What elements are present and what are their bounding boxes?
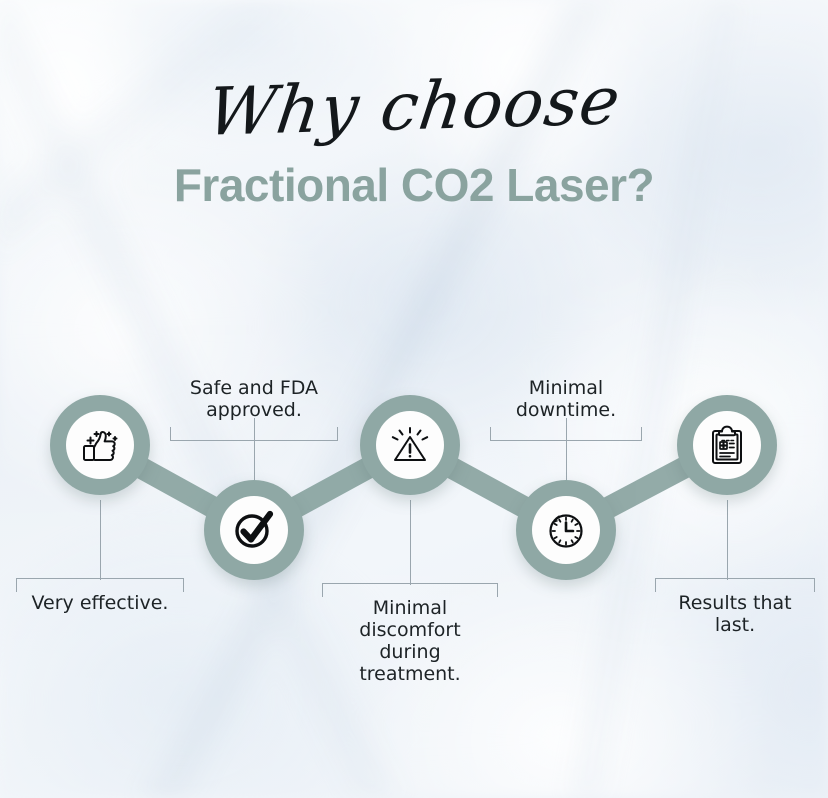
infographic-poster: Why choose Fractional CO2 Laser? — [0, 0, 828, 798]
process-node-1[interactable] — [50, 395, 150, 495]
callout-5-text: Results that last. — [655, 590, 815, 642]
callout-1-bracket — [16, 578, 184, 592]
process-node-4[interactable] — [516, 480, 616, 580]
callout-minimal-discomfort: Minimal discomfort during treatment. — [322, 583, 498, 691]
callout-4-text: Minimal downtime. — [490, 375, 642, 427]
callout-2-bracket — [170, 427, 338, 441]
medical-clipboard-icon — [704, 422, 750, 468]
leader-line-3 — [410, 500, 411, 585]
callout-2-text: Safe and FDA approved. — [170, 375, 338, 427]
process-chain: Very effective. Safe and FDA approved. M… — [0, 0, 828, 798]
process-node-5[interactable] — [677, 395, 777, 495]
leader-line-1 — [100, 500, 101, 580]
callout-3-text: Minimal discomfort during treatment. — [322, 595, 498, 691]
check-circle-icon — [230, 506, 278, 554]
node-1-disc — [66, 411, 134, 479]
callout-5-bracket — [655, 578, 815, 592]
callout-safe-fda: Safe and FDA approved. — [170, 375, 338, 441]
warning-triangle-icon — [387, 422, 433, 468]
thumbs-up-sparkle-icon — [77, 422, 123, 468]
callout-very-effective: Very effective. — [16, 578, 184, 620]
callout-3-bracket — [322, 583, 498, 597]
callout-results-last: Results that last. — [655, 578, 815, 642]
callout-4-bracket — [490, 427, 642, 441]
clock-icon — [543, 507, 589, 553]
node-3-disc — [376, 411, 444, 479]
callout-minimal-downtime: Minimal downtime. — [490, 375, 642, 441]
node-4-disc — [532, 496, 600, 564]
process-node-3[interactable] — [360, 395, 460, 495]
process-node-2[interactable] — [204, 480, 304, 580]
leader-line-5 — [727, 500, 728, 580]
callout-1-text: Very effective. — [16, 590, 184, 620]
node-2-disc — [220, 496, 288, 564]
node-5-disc — [693, 411, 761, 479]
